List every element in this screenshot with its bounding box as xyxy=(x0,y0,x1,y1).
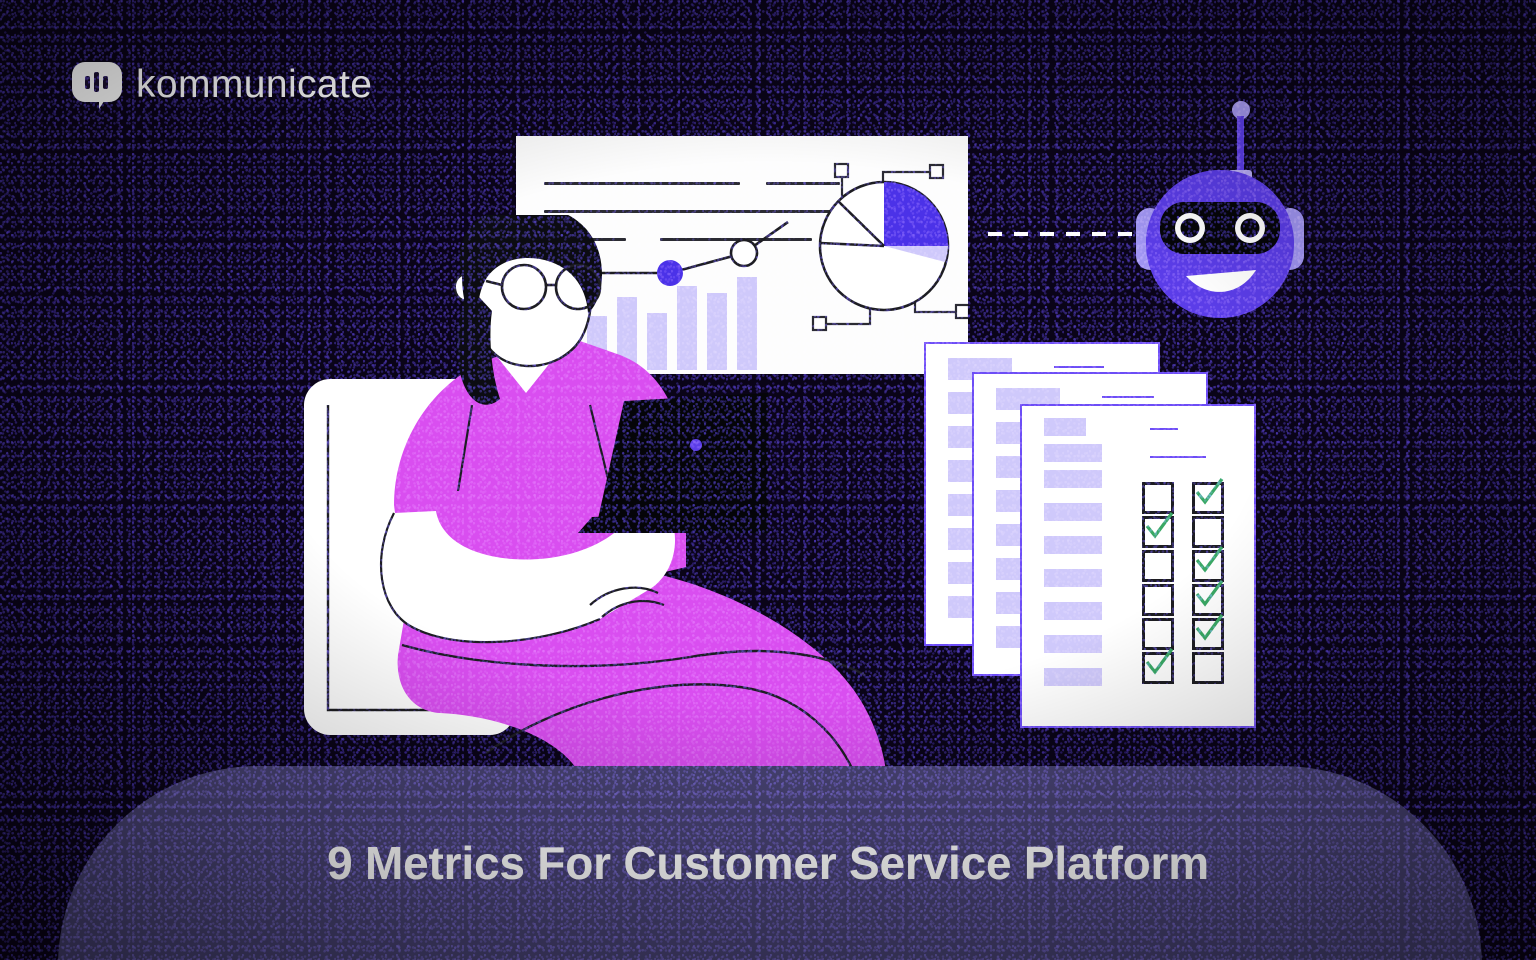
checkbox-checked[interactable] xyxy=(1142,516,1174,548)
brand-logo[interactable]: kommunicate xyxy=(72,62,372,108)
checkbox-unchecked[interactable] xyxy=(1142,550,1174,582)
page-title: 9 Metrics For Customer Service Platform xyxy=(0,836,1536,890)
doc-text-bar xyxy=(1044,536,1102,554)
doc-heading-line xyxy=(1150,456,1206,458)
laptop-logo-dot xyxy=(690,439,702,451)
checkbox-unchecked[interactable] xyxy=(1192,652,1224,684)
dashed-connector xyxy=(988,232,1138,236)
doc-text-bar xyxy=(1044,569,1102,587)
doc-heading-line xyxy=(1054,366,1104,368)
doc-heading-line xyxy=(1150,428,1178,430)
illustration-canvas: 9 Metrics For Customer Service Platform … xyxy=(0,0,1536,960)
checkbox-unchecked[interactable] xyxy=(1142,584,1174,616)
doc-text-bar xyxy=(1044,503,1102,521)
doc-text-bar xyxy=(1044,635,1102,653)
doc-text-bar xyxy=(1044,668,1102,686)
speech-bubble-icon xyxy=(72,62,122,108)
doc-text-bar xyxy=(1044,470,1102,488)
brand-name: kommunicate xyxy=(136,63,372,107)
checkbox-checked[interactable] xyxy=(1192,482,1224,514)
doc-text-bar xyxy=(1044,444,1102,462)
doc-text-bar xyxy=(1044,602,1102,620)
laptop-lid xyxy=(598,393,768,519)
checkbox-checked[interactable] xyxy=(1192,618,1224,650)
chat-robot-mascot xyxy=(1128,98,1312,320)
checkbox-checked[interactable] xyxy=(1142,652,1174,684)
laptop xyxy=(578,393,768,541)
checklist-document-front xyxy=(1020,404,1256,728)
doc-heading-line xyxy=(1102,396,1154,398)
doc-text-bar xyxy=(1044,418,1086,436)
robot-antenna-stem xyxy=(1237,116,1244,178)
